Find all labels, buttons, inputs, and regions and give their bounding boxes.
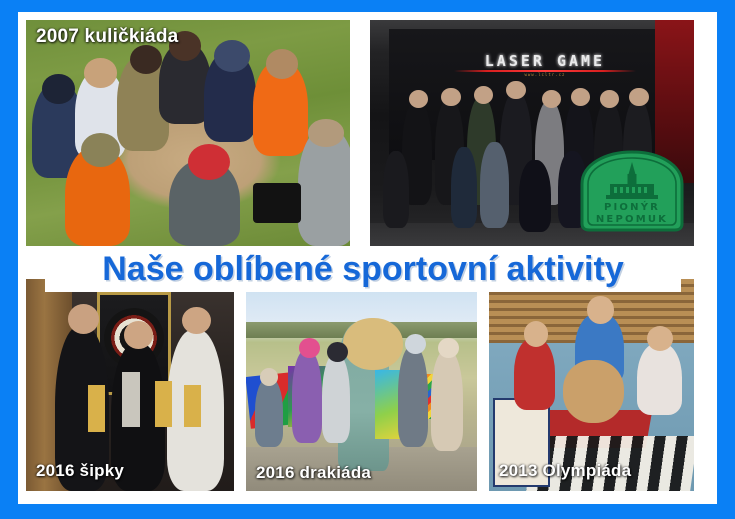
person-head (474, 86, 493, 104)
person-head (308, 119, 344, 146)
person-head (441, 88, 460, 106)
person-head (42, 74, 74, 103)
person-head (81, 133, 120, 167)
laser-game-sign-url: www.lcltr.cz (467, 72, 623, 77)
photo-drakiada[interactable]: 2016 drakiáda (246, 290, 477, 491)
trophy-icon (88, 385, 105, 432)
person-head (214, 40, 250, 72)
dog-mascot-head (343, 318, 403, 370)
person-figure (637, 343, 682, 415)
person-head (587, 296, 614, 324)
person-head (124, 321, 153, 349)
poster-title: Naše oblíbené sportovní aktivity (102, 252, 623, 286)
person-figure (451, 147, 477, 228)
person-figure (519, 160, 551, 232)
person-head (405, 334, 426, 354)
laser-game-sign: LASER GAME www.lcltr.cz (467, 52, 623, 77)
poster-title-band: Naše oblíbené sportovní aktivity (45, 246, 681, 292)
pionyr-nepomuk-logo: PIONÝR NEPOMUK (578, 150, 686, 232)
person-head (84, 58, 116, 87)
person-figure (431, 350, 463, 451)
person-head (182, 307, 211, 335)
photo-label-kulickiada: 2007 kuličkiáda (36, 26, 178, 48)
person-figure (480, 142, 509, 228)
svg-text:NEPOMUK: NEPOMUK (596, 214, 668, 225)
camera-icon (253, 183, 302, 224)
person-head (68, 304, 99, 334)
person-head (327, 342, 348, 362)
person-figure (383, 151, 409, 228)
photo-laser-game[interactable]: LASER GAME www.lcltr.cz (370, 20, 694, 246)
photo-label-drakiada: 2016 drakiáda (256, 463, 371, 483)
person-figure (514, 338, 555, 410)
trophy-icon (184, 385, 201, 427)
person-head (629, 88, 648, 106)
svg-text:PIONÝR: PIONÝR (604, 200, 660, 213)
photo-label-sipky: 2016 šipky (36, 461, 124, 481)
plush-dog (563, 360, 625, 424)
person-head (299, 338, 320, 358)
laser-game-sign-text: LASER GAME (467, 52, 623, 70)
trophy-icon (155, 381, 172, 428)
person-head (506, 81, 525, 99)
person-figure (398, 346, 428, 447)
person-figure (255, 378, 283, 446)
person-head (571, 88, 590, 106)
person-head (438, 338, 459, 358)
poster-root: 2007 kuličkiáda LASER GAME www.lcltr.cz (0, 0, 735, 519)
photo-label-olympiada: 2013 Olympiáda (499, 461, 631, 481)
photo-kulickiada[interactable]: 2007 kuličkiáda (26, 20, 350, 246)
person-head (130, 45, 162, 74)
person-figure (322, 354, 350, 442)
person-head (524, 321, 549, 346)
person-head (266, 49, 298, 78)
photo-sipky[interactable]: 2016 šipky (26, 279, 234, 491)
photo-olympiada[interactable]: 2013 Olympiáda (489, 279, 694, 491)
person-figure (292, 350, 322, 442)
trophy-icon (122, 372, 141, 427)
